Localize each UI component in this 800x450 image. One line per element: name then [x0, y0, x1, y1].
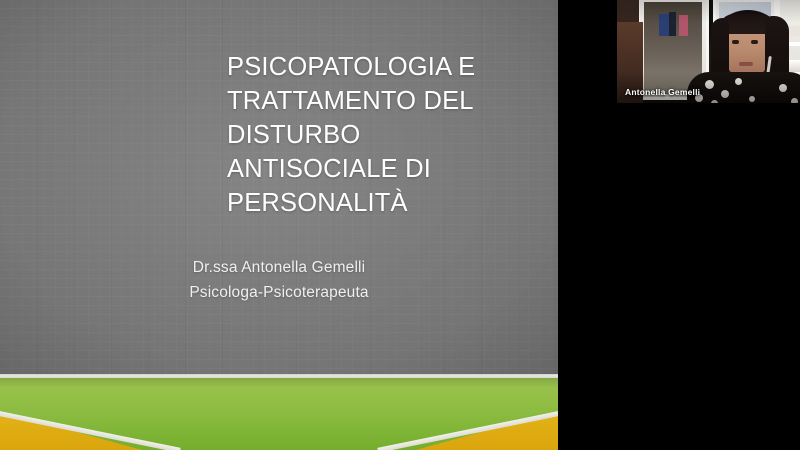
polka-dot — [749, 96, 755, 102]
slide-subtitle: Dr.ssa Antonella Gemelli Psicologa-Psico… — [0, 255, 558, 305]
polka-dot — [779, 84, 787, 92]
polka-dot — [721, 90, 729, 98]
participant-video-tile[interactable]: Antonella Gemelli — [617, 0, 800, 103]
polka-dot — [705, 80, 714, 89]
slide-subtitle-line: Dr.ssa Antonella Gemelli — [0, 255, 558, 280]
participant-name-label: Antonella Gemelli — [625, 87, 700, 97]
polka-dot — [735, 78, 742, 85]
slide-footer-sports-field-graphic — [0, 374, 558, 450]
slide-title-line: ANTISOCIALE DI — [227, 152, 527, 186]
polka-dot — [711, 100, 718, 103]
slide-title-line: TRATTAMENTO DEL — [227, 84, 527, 118]
slide-title: PSICOPATOLOGIA E TRATTAMENTO DEL DISTURB… — [227, 50, 527, 220]
participant-person — [703, 10, 800, 103]
book-pink — [679, 15, 688, 36]
book-blue — [659, 14, 669, 36]
polka-dot — [791, 98, 798, 103]
person-eye-right — [751, 40, 758, 44]
video-call-stage: PSICOPATOLOGIA E TRATTAMENTO DEL DISTURB… — [0, 0, 800, 450]
book-dark — [669, 12, 676, 36]
slide-title-line: PSICOPATOLOGIA E — [227, 50, 527, 84]
slide-title-line: PERSONALITÀ — [227, 186, 527, 220]
shared-presentation-slide[interactable]: PSICOPATOLOGIA E TRATTAMENTO DEL DISTURB… — [0, 0, 558, 450]
field-horizon-line — [0, 374, 558, 378]
person-eye-left — [732, 40, 739, 44]
slide-subtitle-line: Psicologa-Psicoterapeuta — [0, 280, 558, 305]
person-mouth — [739, 62, 753, 66]
slide-title-line: DISTURBO — [227, 118, 527, 152]
person-torso-polka-dot-top — [687, 72, 800, 103]
